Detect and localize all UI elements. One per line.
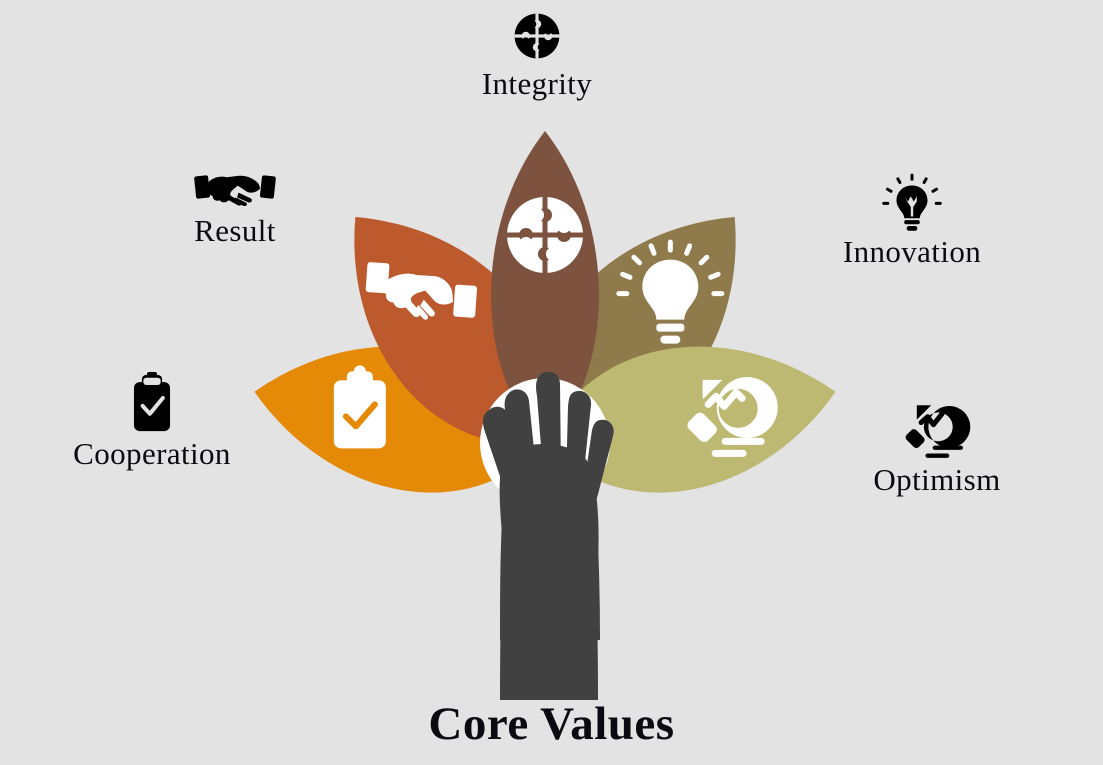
puzzle-circle-icon (509, 8, 565, 64)
value-label-innovation[interactable]: Innovation (797, 170, 1027, 269)
value-label-text: Cooperation (73, 438, 231, 471)
value-label-text: Innovation (843, 236, 981, 269)
value-label-text: Integrity (482, 68, 592, 101)
value-label-result[interactable]: Result (120, 163, 350, 248)
magnifier-growth-icon (902, 398, 972, 460)
value-label-cooperation[interactable]: Cooperation (37, 372, 267, 471)
value-label-text: Result (194, 215, 276, 248)
clipboard-check-icon (128, 372, 176, 434)
value-label-optimism[interactable]: Optimism (822, 398, 1052, 497)
handshake-icon (193, 163, 277, 211)
infographic-canvas: Integrity Result (0, 0, 1103, 765)
value-label-text: Optimism (873, 464, 1000, 497)
value-label-integrity[interactable]: Integrity (422, 8, 652, 101)
page-title: Core Values (0, 697, 1103, 751)
lightbulb-icon (881, 170, 943, 232)
